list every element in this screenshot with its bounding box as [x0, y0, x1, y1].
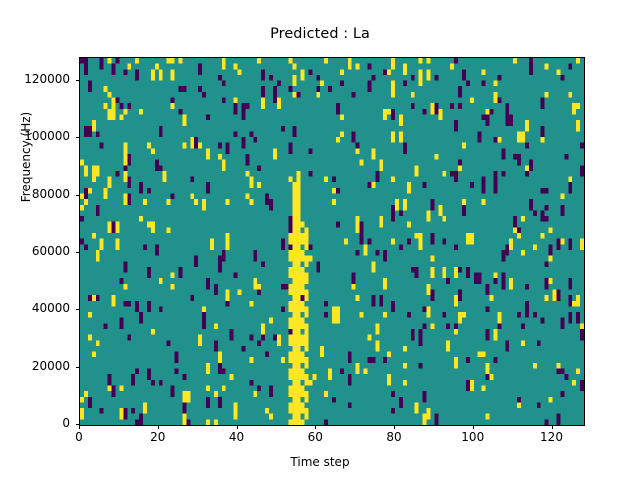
y-tick-label: 20000 [0, 360, 70, 372]
y-tick-label: 80000 [0, 188, 70, 200]
x-tick-mark [473, 425, 474, 429]
x-tick-mark [552, 425, 553, 429]
x-tick-mark [79, 425, 80, 429]
matplotlib-figure: Predicted : La Frequency (Hz) Time step … [0, 0, 640, 480]
x-tick-label: 60 [285, 430, 345, 444]
x-tick-label: 0 [49, 430, 109, 444]
y-tick-label: 120000 [0, 73, 70, 85]
x-tick-label: 40 [207, 430, 267, 444]
x-tick-mark [394, 425, 395, 429]
page-title: Predicted : La [0, 26, 640, 42]
y-axis-label: Frequency (Hz) [19, 77, 33, 237]
y-tick-mark [76, 137, 80, 138]
y-tick-mark [76, 309, 80, 310]
x-tick-label: 100 [443, 430, 503, 444]
y-tick-mark [76, 80, 80, 81]
x-axis-label: Time step [0, 455, 640, 469]
heatmap-axes [79, 57, 585, 426]
x-tick-label: 20 [128, 430, 188, 444]
y-tick-mark [76, 252, 80, 253]
y-tick-label: 0 [0, 417, 70, 429]
y-tick-label: 40000 [0, 302, 70, 314]
x-tick-mark [315, 425, 316, 429]
y-tick-mark [76, 424, 80, 425]
x-tick-label: 80 [364, 430, 424, 444]
y-tick-mark [76, 195, 80, 196]
x-tick-label: 120 [522, 430, 582, 444]
x-tick-mark [237, 425, 238, 429]
y-tick-label: 60000 [0, 245, 70, 257]
y-tick-mark [76, 367, 80, 368]
y-tick-label: 100000 [0, 130, 70, 142]
spectrogram-heatmap [80, 58, 584, 425]
x-tick-mark [158, 425, 159, 429]
